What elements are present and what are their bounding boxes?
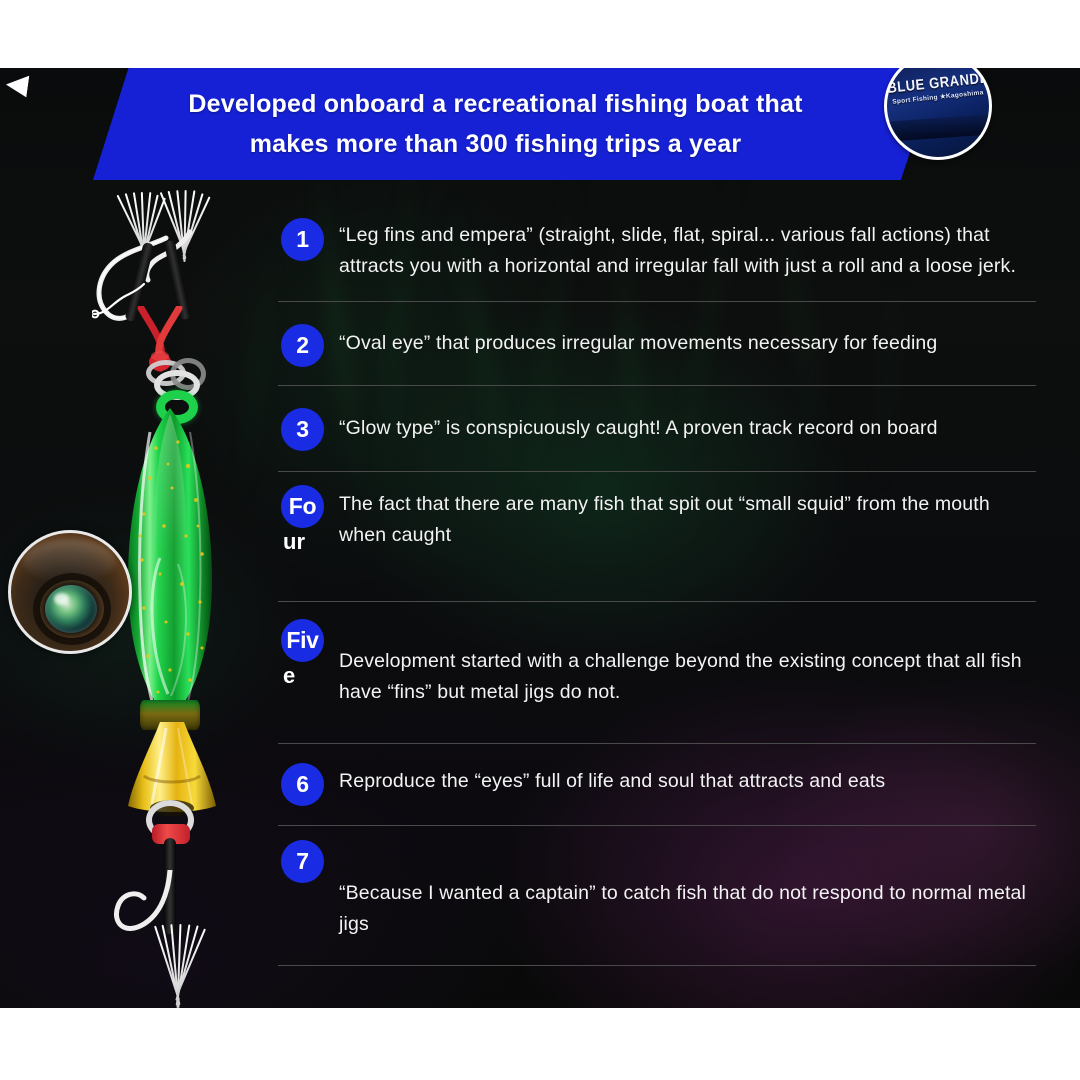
feature-item-7: 7 “Because I wanted a captain” to catch …: [278, 826, 1036, 966]
oval-eye: [45, 585, 97, 633]
banner-title-line2: makes more than 300 fishing trips a year: [250, 124, 742, 164]
feature-text-2: “Oval eye” that produces irregular movem…: [278, 302, 1036, 359]
feature-text-1: “Leg fins and empera” (straight, slide, …: [278, 196, 1036, 282]
feature-badge-2: 2: [281, 324, 324, 367]
feature-badge-5-overflow: e: [283, 665, 295, 687]
oval-eye-magnifier: [8, 530, 132, 654]
brand-logo-badge[interactable]: BLUE GRANDE Sport Fishing ★Kagoshima: [884, 52, 992, 160]
banner-title-line1: Developed onboard a recreational fishing…: [188, 84, 802, 124]
feature-list: 1 “Leg fins and empera” (straight, slide…: [278, 196, 1036, 966]
feature-badge-5: Fiv: [281, 619, 324, 662]
product-lure-image: [0, 180, 278, 970]
feature-text-3: “Glow type” is conspicuously caught! A p…: [278, 386, 1036, 444]
feature-badge-7: 7: [281, 840, 324, 883]
feature-badge-4-overflow: ur: [283, 531, 305, 553]
tail-fibre-tuft: [148, 924, 218, 1008]
feature-item-4: Fo ur The fact that there are many fish …: [278, 472, 1036, 602]
feature-text-4: The fact that there are many fish that s…: [278, 472, 1036, 551]
feature-text-7: “Because I wanted a captain” to catch fi…: [278, 826, 1036, 940]
feature-badge-3: 3: [281, 408, 324, 451]
magnifier-callout-line: [92, 280, 148, 320]
feature-badge-1: 1: [281, 218, 324, 261]
feature-text-6: Reproduce the “eyes” full of life and so…: [278, 744, 1036, 797]
jig-body: [116, 408, 224, 720]
feature-item-5: Fiv e Development started with a challen…: [278, 602, 1036, 744]
feature-badge-6: 6: [281, 763, 324, 806]
brand-logo-content: BLUE GRANDE Sport Fishing ★Kagoshima: [887, 55, 989, 157]
infographic-page: Developed onboard a recreational fishing…: [0, 0, 1080, 1080]
feature-badge-4: Fo: [281, 485, 324, 528]
feature-item-2: 2 “Oval eye” that produces irregular mov…: [278, 302, 1036, 386]
banner-title: Developed onboard a recreational fishing…: [93, 68, 938, 180]
feature-item-3: 3 “Glow type” is conspicuously caught! A…: [278, 386, 1036, 472]
feature-item-1: 1 “Leg fins and empera” (straight, slide…: [278, 196, 1036, 302]
bottom-white-band: [0, 1008, 1080, 1080]
feature-item-6: 6 Reproduce the “eyes” full of life and …: [278, 744, 1036, 826]
feature-text-5: Development started with a challenge bey…: [278, 602, 1036, 708]
